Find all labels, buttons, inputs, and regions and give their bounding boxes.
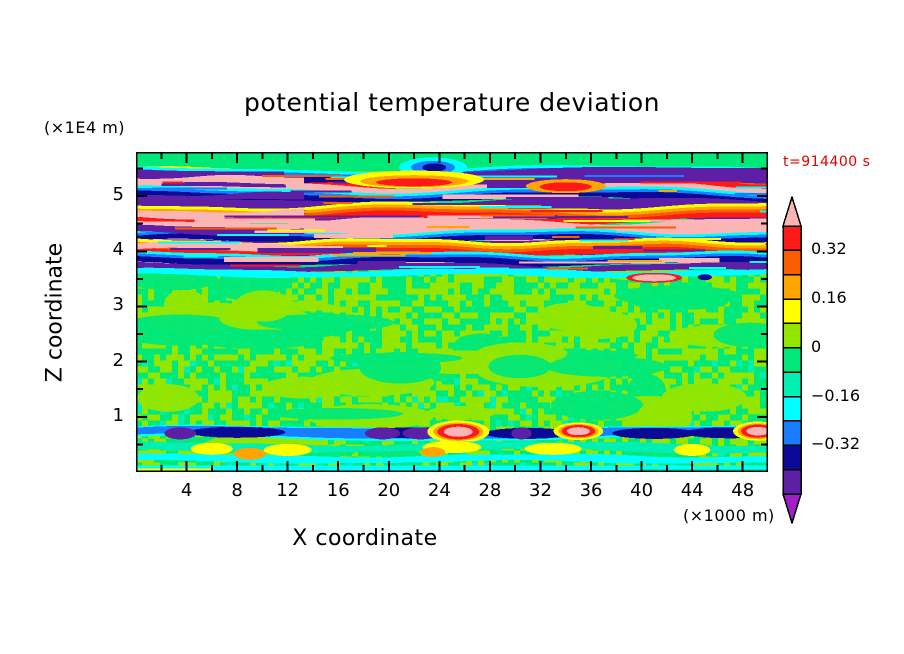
x-tick-label: 8 bbox=[217, 480, 257, 501]
contour-plot-area bbox=[136, 152, 768, 472]
colorbar-tick-label: −0.32 bbox=[811, 434, 860, 453]
colorbar-tick-label: 0.16 bbox=[811, 288, 847, 307]
x-tick-label: 48 bbox=[723, 480, 763, 501]
y-tick-label: 5 bbox=[94, 184, 124, 205]
y-tick-label: 4 bbox=[94, 239, 124, 260]
x-axis-unit-label: (×1000 m) bbox=[683, 506, 775, 525]
y-axis-label: Z coordinate bbox=[43, 213, 68, 413]
x-tick-label: 44 bbox=[672, 480, 712, 501]
y-tick-label: 3 bbox=[94, 294, 124, 315]
y-axis-unit-label: (×1E4 m) bbox=[44, 118, 125, 137]
colorbar-tick-label: 0.32 bbox=[811, 239, 847, 258]
x-axis-label: X coordinate bbox=[0, 526, 730, 551]
x-tick-label: 28 bbox=[470, 480, 510, 501]
y-tick-label: 2 bbox=[94, 350, 124, 371]
figure-canvas: potential temperature deviation (×1E4 m)… bbox=[0, 0, 904, 654]
x-tick-label: 20 bbox=[369, 480, 409, 501]
x-tick-label: 24 bbox=[419, 480, 459, 501]
colorbar-tick-label: 0 bbox=[811, 337, 821, 356]
x-tick-label: 32 bbox=[520, 480, 560, 501]
x-tick-label: 12 bbox=[268, 480, 308, 501]
x-tick-label: 36 bbox=[571, 480, 611, 501]
page-title: potential temperature deviation bbox=[0, 88, 904, 117]
x-tick-label: 4 bbox=[167, 480, 207, 501]
y-tick-label: 1 bbox=[94, 405, 124, 426]
x-tick-label: 40 bbox=[622, 480, 662, 501]
colorbar[interactable] bbox=[779, 196, 807, 524]
x-tick-label: 16 bbox=[318, 480, 358, 501]
colorbar-tick-label: −0.16 bbox=[811, 386, 860, 405]
timestamp-annotation: t=914400 s bbox=[783, 154, 870, 170]
